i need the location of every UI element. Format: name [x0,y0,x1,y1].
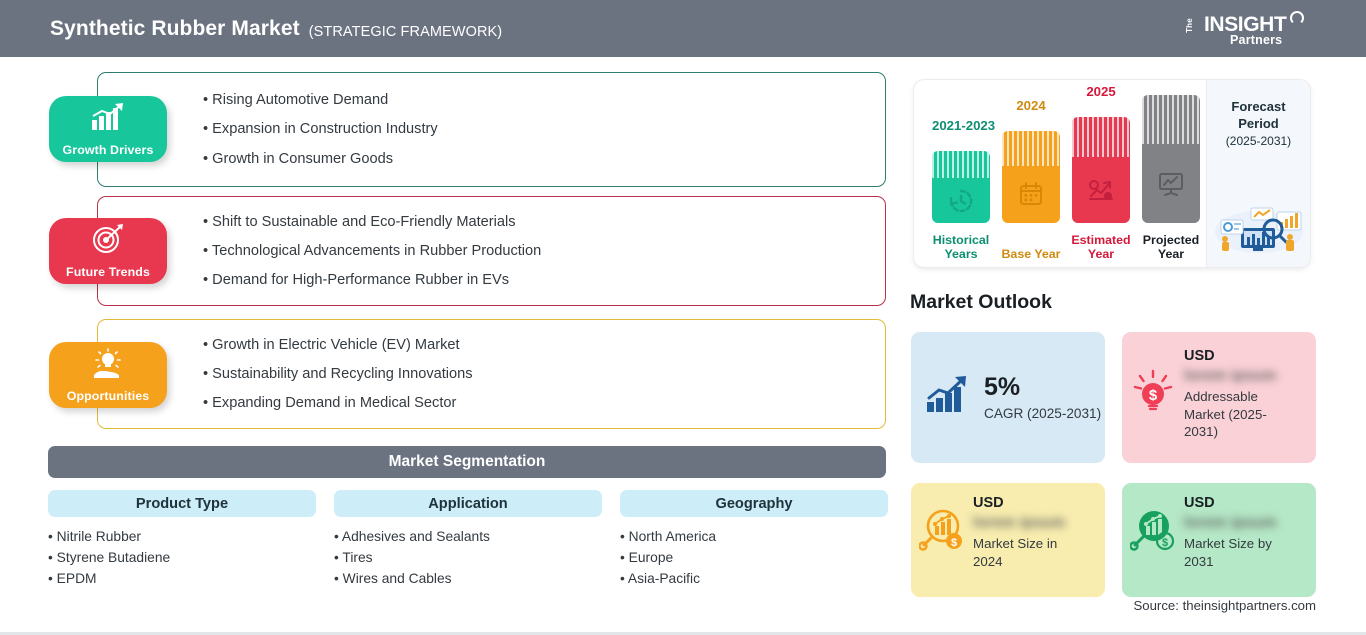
timeline-bar [1142,95,1200,223]
outlook-card-addressable-market[interactable]: $ USD lorem ipsum Addressable Market (20… [1122,332,1316,463]
logo-circle-icon [1290,11,1304,25]
panel-opportunities: Growth in Electric Vehicle (EV) Market S… [97,319,886,429]
card-desc: Market Size in 2024 [973,535,1081,570]
list-item: Asia-Pacific [620,569,888,590]
bar-chart-arrow-icon [925,374,973,421]
usd-label: USD [1184,495,1292,511]
history-clock-icon [932,178,990,223]
timeline-bar [932,151,990,223]
list-item: EPDM [48,569,316,590]
page-title-text: Synthetic Rubber Market [50,17,300,40]
projection-screen-icon [1142,144,1200,223]
target-dart-icon [90,224,126,259]
bullet-item: Expansion in Construction Industry [203,121,438,137]
badge-future-trends[interactable]: Future Trends [49,218,167,284]
bullet-item: Technological Advancements in Rubber Pro… [203,243,541,259]
panel-growth-drivers: Rising Automotive Demand Expansion in Co… [97,72,886,187]
panel-bullets-future-trends: Shift to Sustainable and Eco-Friendly Ma… [203,197,541,305]
blurred-value: lorem ipsum [1184,514,1292,531]
infographic-page: Synthetic Rubber Market(STRATEGIC FRAMEW… [0,0,1366,635]
list-item: Styrene Butadiene [48,548,316,569]
list-item: Nitrile Rubber [48,527,316,548]
segmentation-head: Product Type [48,490,316,517]
logo-the-text: The [1185,18,1194,33]
segmentation-list: Nitrile Rubber Styrene Butadiene EPDM [48,527,316,589]
bar-stripes [1002,131,1060,166]
forecast-range: (2025-2031) [1207,134,1310,148]
usd-label: USD [1184,348,1289,364]
analytics-illustration-icon [1211,192,1307,259]
usd-label: USD [973,495,1081,511]
outlook-card-cagr[interactable]: 5% CAGR (2025-2031) [911,332,1105,463]
timeline-bar [1072,117,1130,223]
badge-opportunities[interactable]: Opportunities [49,342,167,408]
bullet-item: Rising Automotive Demand [203,92,438,108]
timeline-year-label: 2024 [1002,98,1060,113]
timeline-caption: Projected Year [1132,233,1210,261]
svg-text:$: $ [1149,387,1158,404]
card-desc: Addressable Market (2025-2031) [1184,388,1289,441]
bullet-item: Growth in Consumer Goods [203,151,438,167]
cagr-desc: CAGR (2025-2031) [984,406,1101,421]
badge-growth-drivers[interactable]: Growth Drivers [49,96,167,162]
segmentation-column-geography: Geography North America Europe Asia-Paci… [620,490,888,589]
segmentation-head: Application [334,490,602,517]
magnifier-chart-dollar-icon: $ [919,507,965,597]
blurred-value: lorem ipsum [1184,367,1289,384]
bar-stripes [932,151,990,178]
study-period-timeline-chart: 2021-2023 Historical Years 2024 [914,80,1310,267]
segmentation-list: Adhesives and Sealants Tires Wires and C… [334,527,602,589]
bullet-item: Sustainability and Recycling Innovations [203,366,473,382]
list-item: Adhesives and Sealants [334,527,602,548]
badge-label: Growth Drivers [63,143,154,157]
panel-future-trends: Shift to Sustainable and Eco-Friendly Ma… [97,196,886,306]
forecast-period-panel: Forecast Period (2025-2031) [1206,80,1310,267]
market-segmentation-title: Market Segmentation [48,446,886,478]
segmentation-list: North America Europe Asia-Pacific [620,527,888,589]
blurred-value: lorem ipsum [973,514,1081,531]
segmentation-head: Geography [620,490,888,517]
source-attribution: Source: theinsightpartners.com [1133,598,1316,613]
lightbulb-dollar-icon: $ [1132,368,1174,463]
bar-chart-growth-icon [88,102,128,137]
bar-stripes [1142,95,1200,144]
insight-partners-logo: The INSIGHT Partners [1192,9,1308,49]
card-desc: Market Size by 2031 [1184,535,1292,570]
magnifier-chart-dollar-icon: $ [1130,507,1176,597]
bullet-item: Growth in Electric Vehicle (EV) Market [203,337,473,353]
outlook-card-market-size-2031[interactable]: $ USD lorem ipsum Market Size by 2031 [1122,483,1316,597]
forecast-title-line2: Period [1207,115,1310,132]
estimate-chart-gear-icon [1072,157,1130,223]
timeline-bar [1002,131,1060,223]
bullet-item: Demand for High-Performance Rubber in EV… [203,272,541,288]
timeline-caption: Historical Years [922,233,1000,261]
segmentation-column-product-type: Product Type Nitrile Rubber Styrene Buta… [48,490,316,589]
panel-bullets-growth-drivers: Rising Automotive Demand Expansion in Co… [203,73,438,186]
logo-partners-text: Partners [1230,33,1282,47]
bullet-item: Expanding Demand in Medical Sector [203,395,473,411]
badge-label: Future Trends [66,265,150,279]
lightbulb-hand-icon [88,348,128,385]
timeline-year-label: 2025 [1072,84,1130,99]
segmentation-column-application: Application Adhesives and Sealants Tires… [334,490,602,589]
list-item: Europe [620,548,888,569]
list-item: Wires and Cables [334,569,602,590]
page-subtitle: (STRATEGIC FRAMEWORK) [309,24,503,40]
forecast-title-line1: Forecast [1207,98,1310,115]
badge-label: Opportunities [67,389,150,403]
calendar-icon [1002,166,1060,223]
list-item: North America [620,527,888,548]
timeline-caption: Base Year [992,247,1070,261]
svg-text:$: $ [951,537,957,549]
list-item: Tires [334,548,602,569]
cagr-value: 5% [984,375,1101,400]
page-header: Synthetic Rubber Market(STRATEGIC FRAMEW… [0,0,1366,57]
timeline-year-label: 2021-2023 [932,118,990,133]
panel-bullets-opportunities: Growth in Electric Vehicle (EV) Market S… [203,320,473,428]
page-title: Synthetic Rubber Market(STRATEGIC FRAMEW… [50,17,502,41]
market-outlook-title: Market Outlook [910,291,1052,314]
timeline-caption: Estimated Year [1062,233,1140,261]
outlook-card-market-size-2024[interactable]: $ USD lorem ipsum Market Size in 2024 [911,483,1105,597]
bar-stripes [1072,117,1130,157]
svg-text:$: $ [1162,537,1168,549]
bullet-item: Shift to Sustainable and Eco-Friendly Ma… [203,214,541,230]
